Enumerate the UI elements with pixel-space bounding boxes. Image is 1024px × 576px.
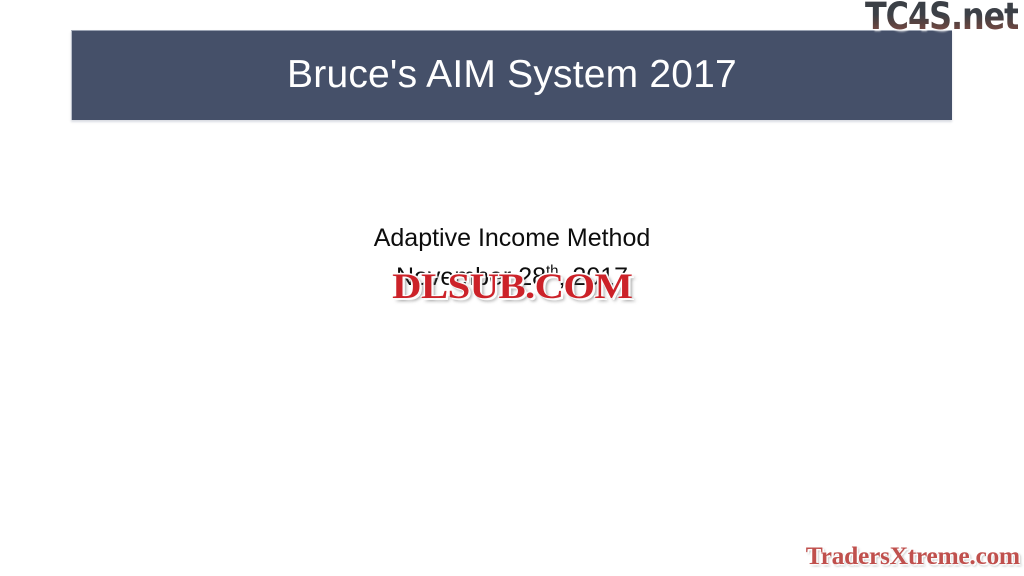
- slide-title-banner: Bruce's AIM System 2017: [71, 30, 952, 120]
- slide-content-block: Adaptive Income Method November 28th, 20…: [0, 222, 1024, 293]
- tradersxtreme-watermark: TradersXtreme.com: [810, 544, 1020, 569]
- slide-title: Bruce's AIM System 2017: [287, 55, 737, 94]
- slide-date-prefix: November 28: [396, 263, 546, 291]
- slide-date: November 28th, 2017: [0, 261, 1024, 293]
- tradersxtreme-watermark-text: TradersXtreme.com: [806, 544, 1020, 569]
- slide-subtitle: Adaptive Income Method: [0, 222, 1024, 254]
- slide-date-ordinal-suffix: th: [546, 263, 559, 280]
- slide-date-suffix: , 2017: [559, 263, 629, 291]
- presentation-slide: Bruce's AIM System 2017 TC4S.net Adaptiv…: [0, 0, 1024, 576]
